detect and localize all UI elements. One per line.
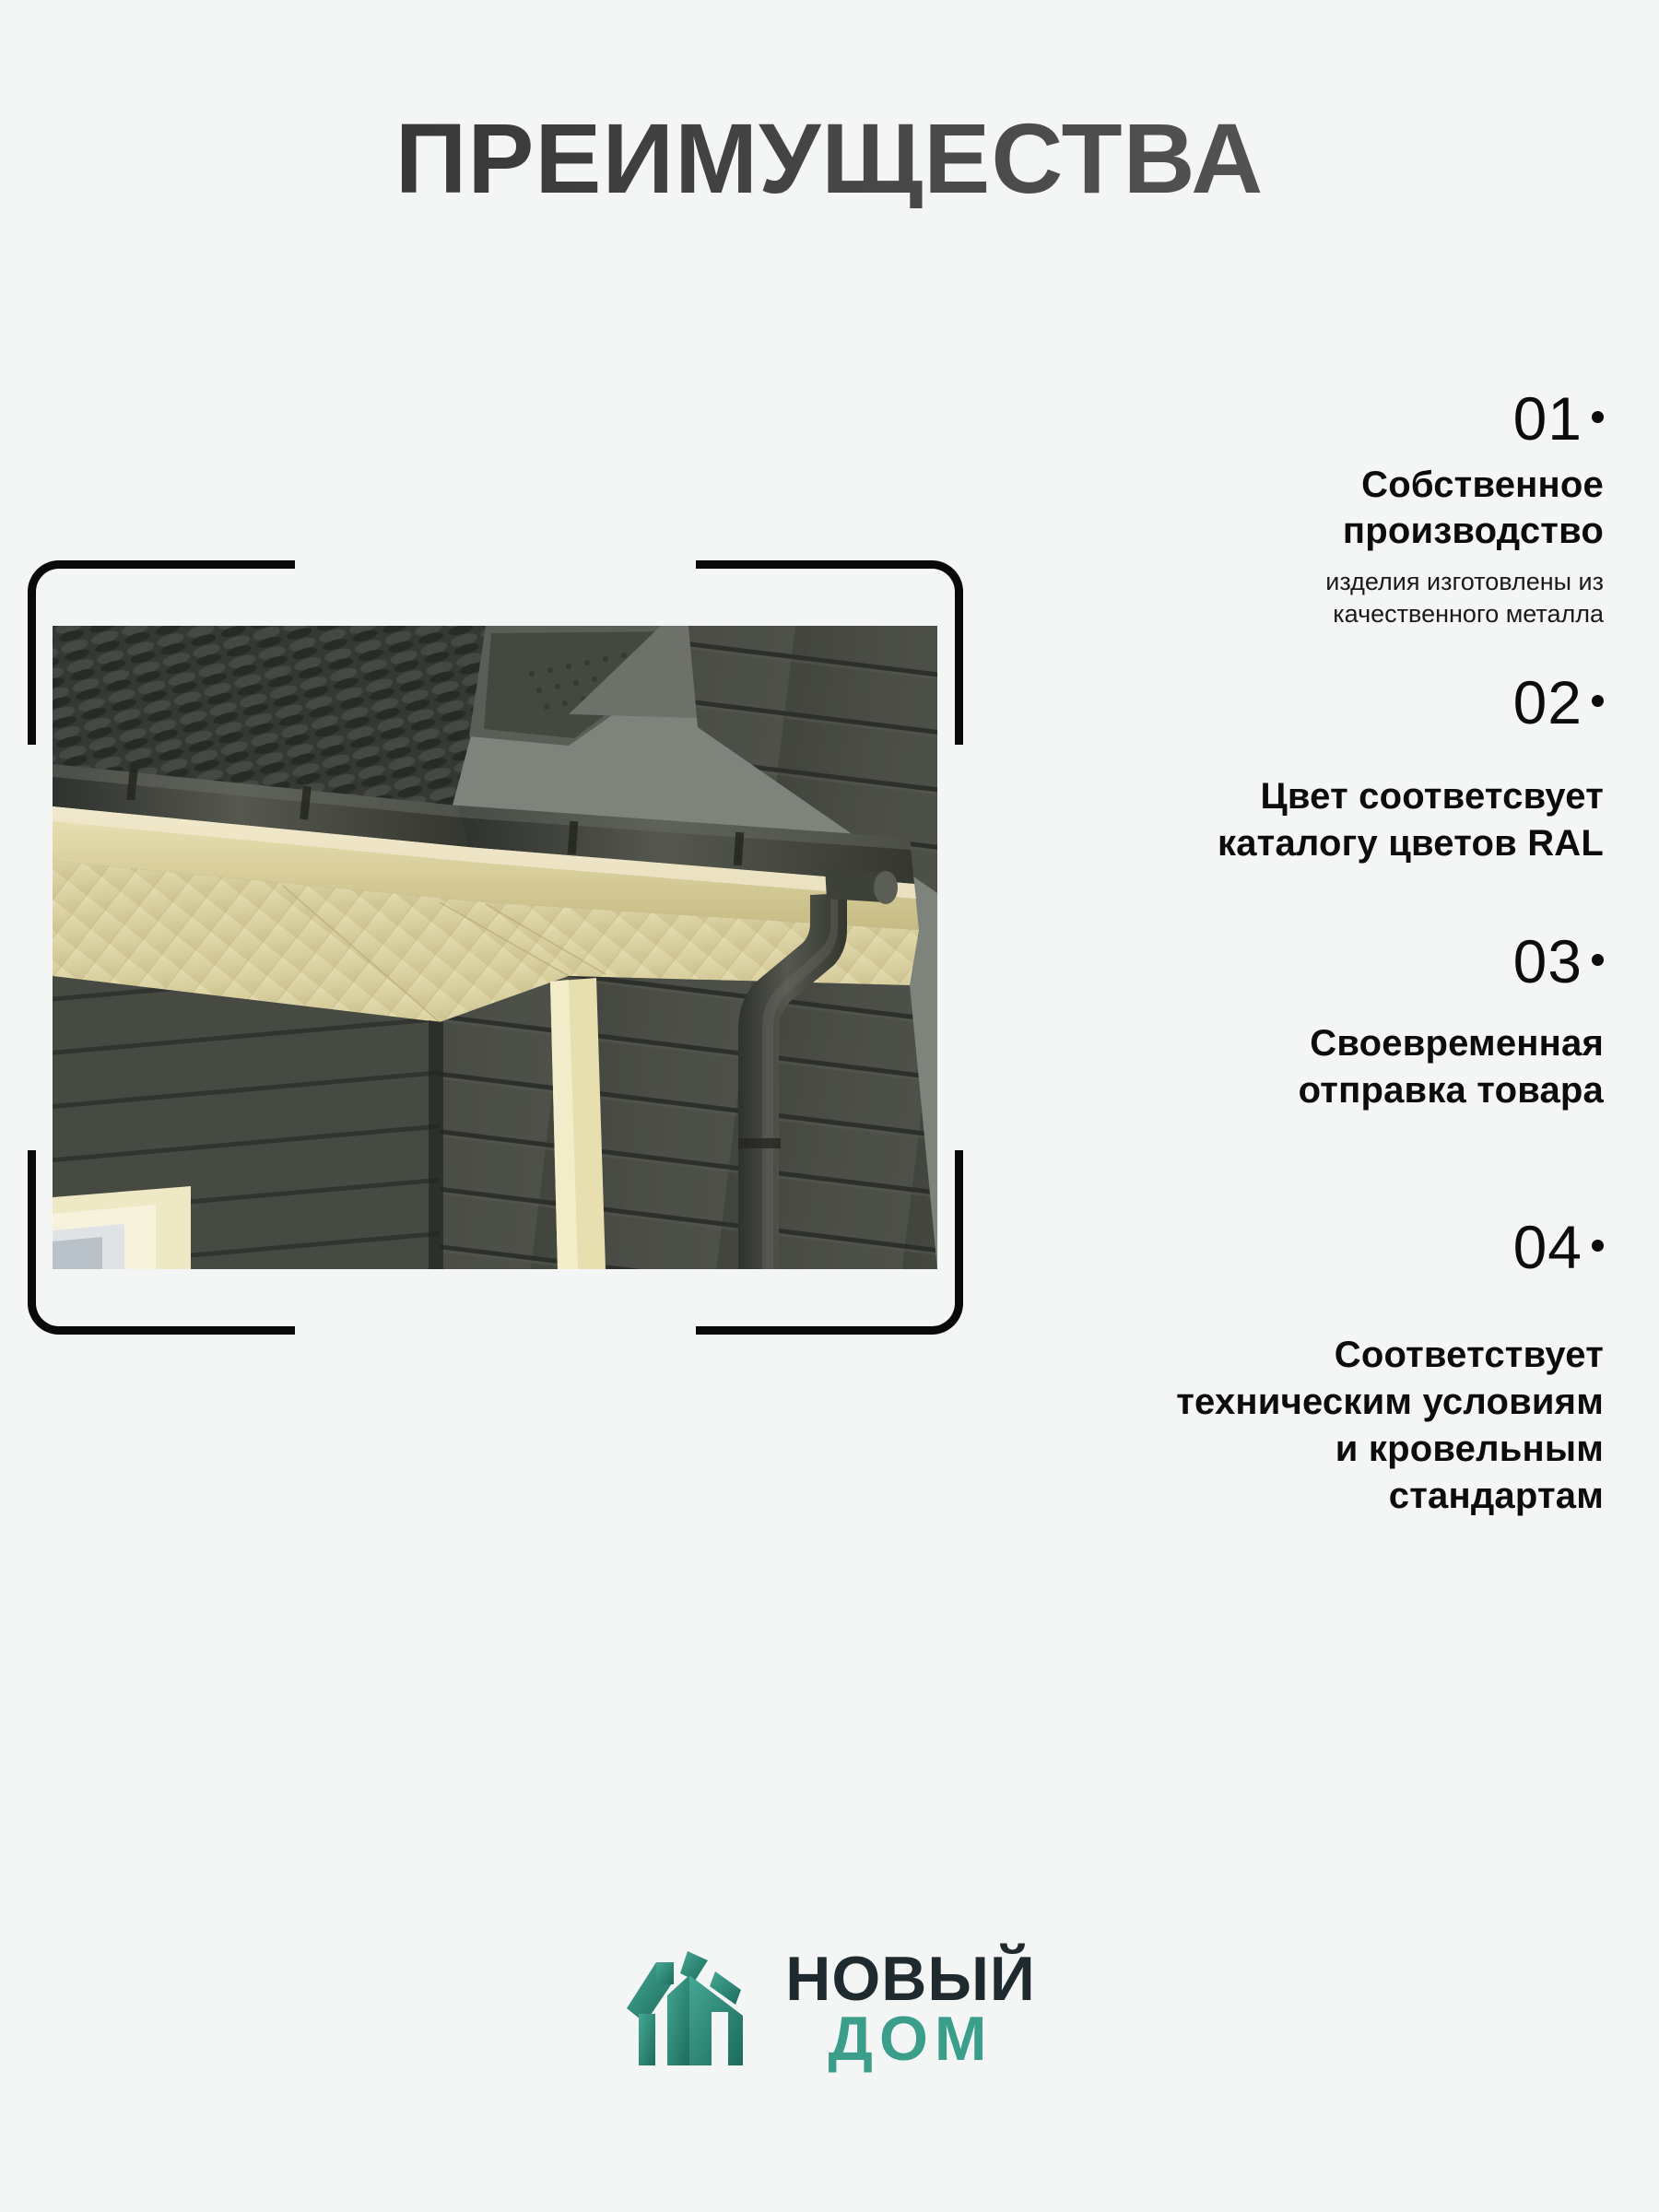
feature-subtitle: изделия изготовлены из качественного мет… (922, 566, 1604, 630)
feature-title: Соответствует техническим условиям и кро… (922, 1332, 1604, 1519)
page-title: ПРЕИМУЩЕСТВА (0, 109, 1659, 208)
feature-number-text: 02 (1513, 668, 1583, 736)
feature-number-text: 03 (1513, 927, 1583, 995)
photo-frame (28, 560, 963, 1335)
bullet-dot-icon (1592, 695, 1604, 707)
bullet-dot-icon (1592, 1240, 1604, 1252)
features-list: 01 Собственное производство изделия изго… (922, 387, 1604, 1520)
feature-item-04: 04 Соответствует техническим условиям и … (922, 1216, 1604, 1520)
logo-wordmark: НОВЫЙ ДОМ (785, 1949, 1036, 2070)
feature-number-text: 04 (1513, 1213, 1583, 1281)
logo-line-dom: ДОМ (785, 2009, 1036, 2069)
bullet-dot-icon (1592, 411, 1604, 423)
feature-item-02: 02 Цвет соответсвует каталогу цветов RAL (922, 671, 1604, 866)
feature-item-03: 03 Своевременная отправка товара (922, 930, 1604, 1114)
house-roof-icon (623, 1940, 761, 2078)
feature-number: 04 (922, 1216, 1604, 1279)
feature-title: Цвет соответсвует каталогу цветов RAL (922, 773, 1604, 867)
feature-number: 02 (922, 671, 1604, 735)
feature-number-text: 01 (1513, 384, 1583, 453)
feature-title: Своевременная отправка товара (922, 1020, 1604, 1114)
feature-item-01: 01 Собственное производство изделия изго… (922, 387, 1604, 630)
feature-number: 03 (922, 930, 1604, 994)
feature-number: 01 (922, 387, 1604, 451)
feature-title: Собственное производство (922, 462, 1604, 556)
house-corner-photo (53, 626, 937, 1269)
logo-line-novyy: НОВЫЙ (785, 1949, 1036, 2009)
advantages-poster: ПРЕИМУЩЕСТВА (0, 0, 1659, 2212)
brand-logo: НОВЫЙ ДОМ (0, 1940, 1659, 2078)
bullet-dot-icon (1592, 954, 1604, 966)
